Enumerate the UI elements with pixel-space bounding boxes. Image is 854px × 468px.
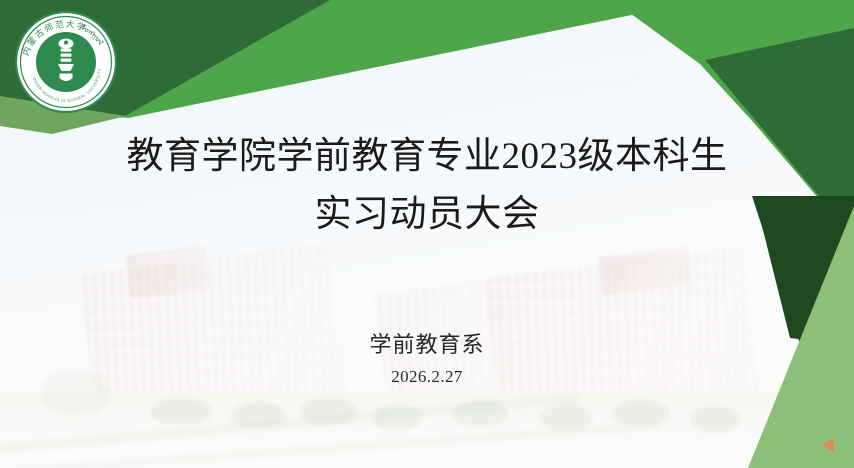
- title-line-2: 实习动员大会: [0, 186, 854, 244]
- university-logo: 内蒙古师范大学 ᠮᠣᠩᠭᠣᠯ INNER MONGOLIA NORMAL UNI…: [14, 10, 118, 114]
- slide-title: 教育学院学前教育专业2023级本科生 实习动员大会: [0, 128, 854, 244]
- presentation-slide: 内蒙古师范大学 ᠮᠣᠩᠭᠣᠯ INNER MONGOLIA NORMAL UNI…: [0, 0, 854, 468]
- play-previous-button[interactable]: [816, 432, 842, 458]
- slide-subtitle: 学前教育系 2026.2.27: [0, 330, 854, 390]
- subtitle-date: 2026.2.27: [0, 364, 854, 390]
- subtitle-department: 学前教育系: [0, 330, 854, 360]
- title-line-1: 教育学院学前教育专业2023级本科生: [0, 128, 854, 186]
- play-triangle-left-icon: [819, 435, 839, 455]
